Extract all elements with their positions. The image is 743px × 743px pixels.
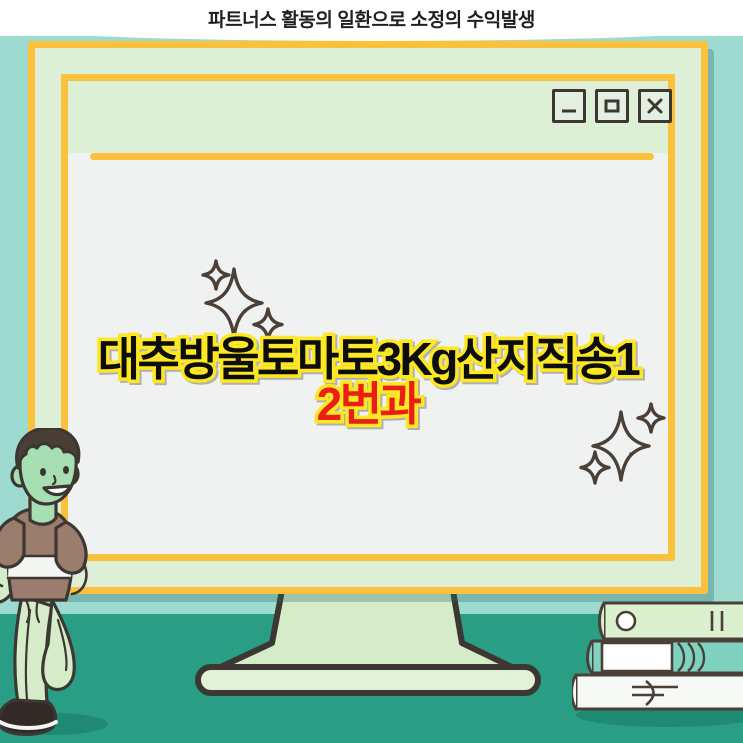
close-button[interactable] bbox=[638, 89, 672, 123]
poster-canvas: 파트너스 활동의 일환으로 소정의 수익발생 bbox=[0, 0, 743, 743]
headline-line-1: 대추방울토마토3Kg산지직송1 bbox=[68, 337, 668, 382]
scene: 대추방울토마토3Kg산지직송1 2번과 bbox=[0, 33, 743, 743]
maximize-button[interactable] bbox=[595, 89, 629, 123]
header-disclaimer-text: 파트너스 활동의 일환으로 소정의 수익발생 bbox=[208, 5, 535, 32]
standing-person-illustration bbox=[0, 428, 176, 743]
headline-line-2: 2번과 bbox=[68, 382, 668, 427]
header-banner: 파트너스 활동의 일환으로 소정의 수익발생 bbox=[0, 0, 743, 36]
maximize-icon bbox=[602, 96, 622, 116]
close-icon bbox=[645, 96, 665, 116]
book-stack-illustration bbox=[572, 589, 743, 743]
product-headline: 대추방울토마토3Kg산지직송1 2번과 bbox=[68, 337, 668, 427]
minimize-icon bbox=[559, 96, 579, 116]
window-controls bbox=[552, 89, 672, 123]
minimize-button[interactable] bbox=[552, 89, 586, 123]
